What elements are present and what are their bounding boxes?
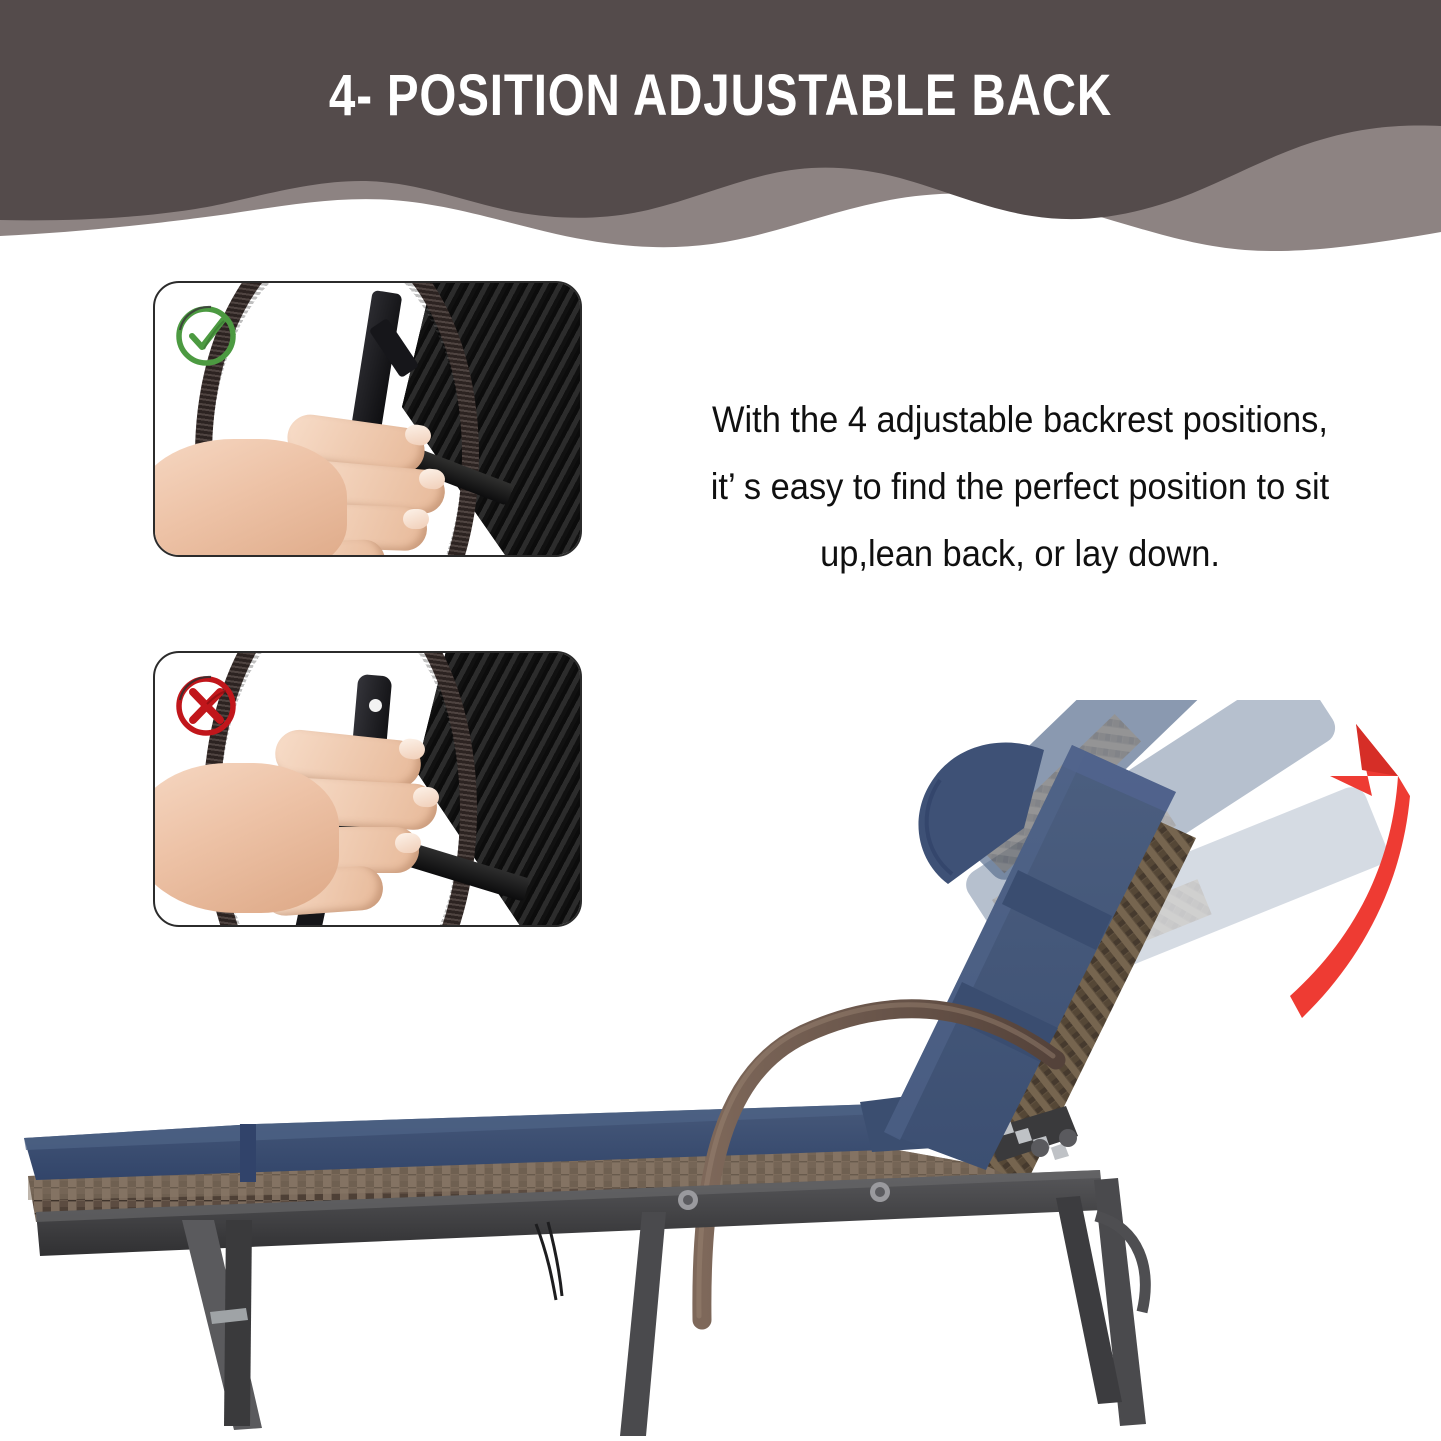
description-line-3: up,lean back, or lay down. bbox=[648, 520, 1392, 587]
palm bbox=[155, 439, 347, 555]
page-title: 4- POSITION ADJUSTABLE BACK bbox=[130, 62, 1312, 129]
fingernail bbox=[403, 509, 429, 529]
leg-front-right bbox=[224, 1220, 252, 1426]
inset-correct-grip bbox=[153, 281, 582, 557]
description-text: With the 4 adjustable backrest positions… bbox=[648, 386, 1392, 587]
infographic-page: 4- POSITION ADJUSTABLE BACK bbox=[0, 0, 1441, 1441]
product-illustration bbox=[0, 700, 1441, 1441]
chaise-lounge-svg bbox=[0, 700, 1441, 1441]
check-circle-icon bbox=[171, 301, 241, 371]
banner-wave-shape bbox=[0, 0, 1441, 270]
hand-graphic bbox=[155, 413, 467, 555]
tension-cord bbox=[536, 1224, 556, 1300]
description-line-2: it’ s easy to find the perfect position … bbox=[648, 453, 1392, 520]
description-line-1: With the 4 adjustable backrest positions… bbox=[648, 386, 1392, 453]
header-banner: 4- POSITION ADJUSTABLE BACK bbox=[0, 0, 1441, 270]
leg-rear-left bbox=[620, 1212, 666, 1436]
